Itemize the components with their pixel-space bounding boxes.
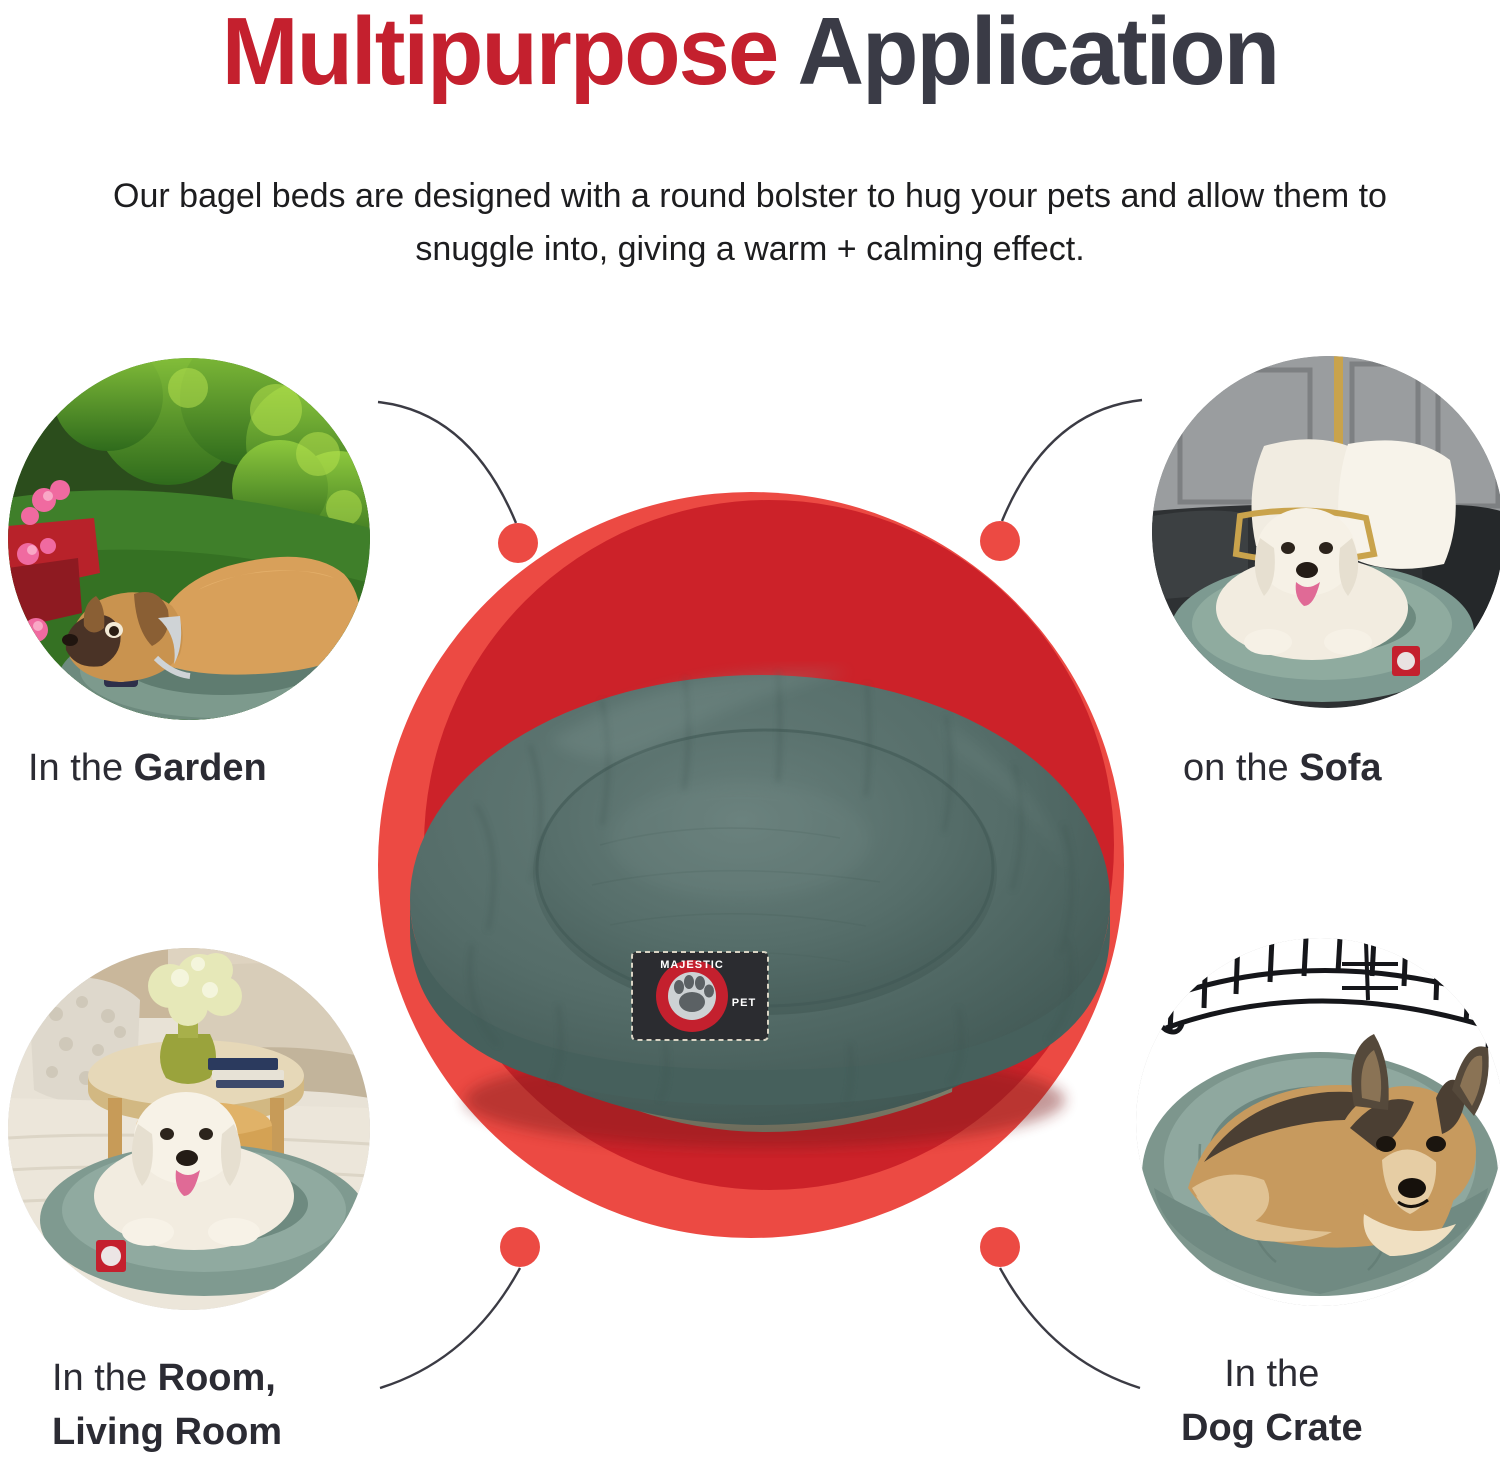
connector-line-living-room	[380, 1268, 520, 1388]
connector-line-dog-crate	[1000, 1268, 1140, 1388]
page-title-highlight: Multipurpose	[222, 0, 798, 105]
caption-living-room: In the Room, Living Room	[52, 1352, 282, 1460]
page-title: Multipurpose Application	[30, 4, 1470, 100]
caption-dog-crate-line2-bold: Dog Crate	[1181, 1407, 1363, 1449]
svg-text:PET: PET	[732, 997, 756, 1009]
brand-tag: MAJESTIC PET	[632, 952, 768, 1040]
connector-line-sofa	[1002, 400, 1142, 521]
caption-dog-crate: In the Dog Crate	[1181, 1348, 1363, 1456]
caption-sofa-prefix: on the	[1183, 747, 1299, 789]
page-subtitle: Our bagel beds are designed with a round…	[50, 170, 1450, 275]
connector-dot-sofa	[980, 521, 1020, 561]
connector-dot-living-room	[500, 1227, 540, 1267]
product-hero-image: MAJESTIC PET	[380, 600, 1140, 1180]
caption-dog-crate-line2: Dog Crate	[1181, 1402, 1363, 1456]
caption-living-room-prefix: In the	[52, 1357, 158, 1399]
page-title-rest: Application	[798, 0, 1279, 105]
caption-garden-bold: Garden	[134, 747, 267, 789]
caption-dog-crate-line1: In the	[1181, 1348, 1363, 1402]
caption-sofa-bold: Sofa	[1299, 747, 1381, 789]
callout-photo-dog-crate	[1136, 938, 1500, 1306]
caption-sofa: on the Sofa	[1183, 742, 1382, 796]
callout-photo-garden	[8, 358, 370, 720]
callout-photo-sofa	[1152, 356, 1500, 708]
caption-garden: In the Garden	[28, 742, 267, 796]
connector-dot-dog-crate	[980, 1227, 1020, 1267]
connector-line-garden	[378, 402, 516, 523]
connector-dot-garden	[498, 523, 538, 563]
caption-garden-prefix: In the	[28, 747, 134, 789]
callout-photo-living-room	[8, 948, 370, 1310]
caption-living-room-line1: In the Room,	[52, 1352, 282, 1406]
caption-living-room-bold: Room,	[158, 1357, 276, 1399]
caption-living-room-line2: Living Room	[52, 1406, 282, 1460]
infographic-canvas: Multipurpose Application Our bagel beds …	[0, 0, 1500, 1470]
caption-living-room-line2-bold: Living Room	[52, 1411, 282, 1453]
svg-text:MAJESTIC: MAJESTIC	[660, 959, 724, 971]
